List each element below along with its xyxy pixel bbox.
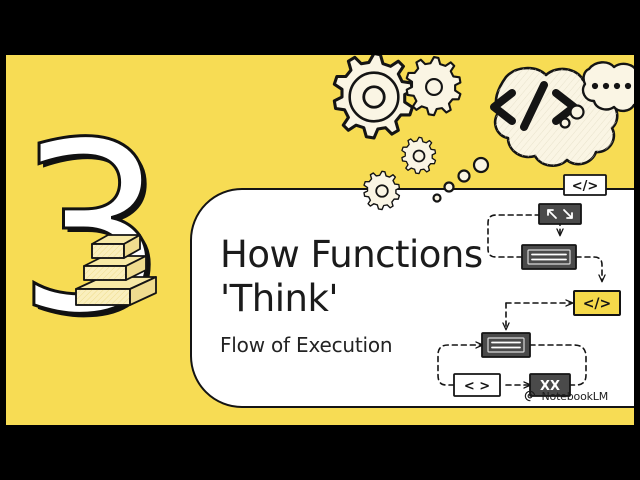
flow-node-lines-lower [482, 333, 530, 357]
slide-frame: 3 [0, 0, 640, 480]
stacked-boxes-icon [68, 223, 164, 309]
flow-node-code-top: </> [564, 175, 606, 195]
flow-diagram: </> </> [434, 113, 634, 403]
gear-small-icon [402, 137, 436, 173]
notebooklm-logo-icon [523, 389, 537, 403]
flow-node-lines-upper [522, 245, 576, 269]
slide-stage: 3 [6, 55, 634, 425]
svg-text:</>: </> [583, 296, 612, 312]
svg-text:< >: < > [464, 379, 490, 394]
flow-node-angle: < > [454, 374, 500, 396]
flow-node-expand [539, 204, 581, 224]
gear-large-icon [334, 55, 412, 138]
slide-number-group: 3 [16, 115, 186, 345]
svg-text:</>: </> [572, 179, 599, 194]
gear-medium-icon [407, 57, 461, 115]
flow-node-code-yellow: </> [574, 291, 620, 315]
brand-name: NotebookLM [542, 390, 608, 403]
thought-cloud-dots-icon [583, 62, 634, 111]
brand-footer: NotebookLM [523, 389, 608, 403]
